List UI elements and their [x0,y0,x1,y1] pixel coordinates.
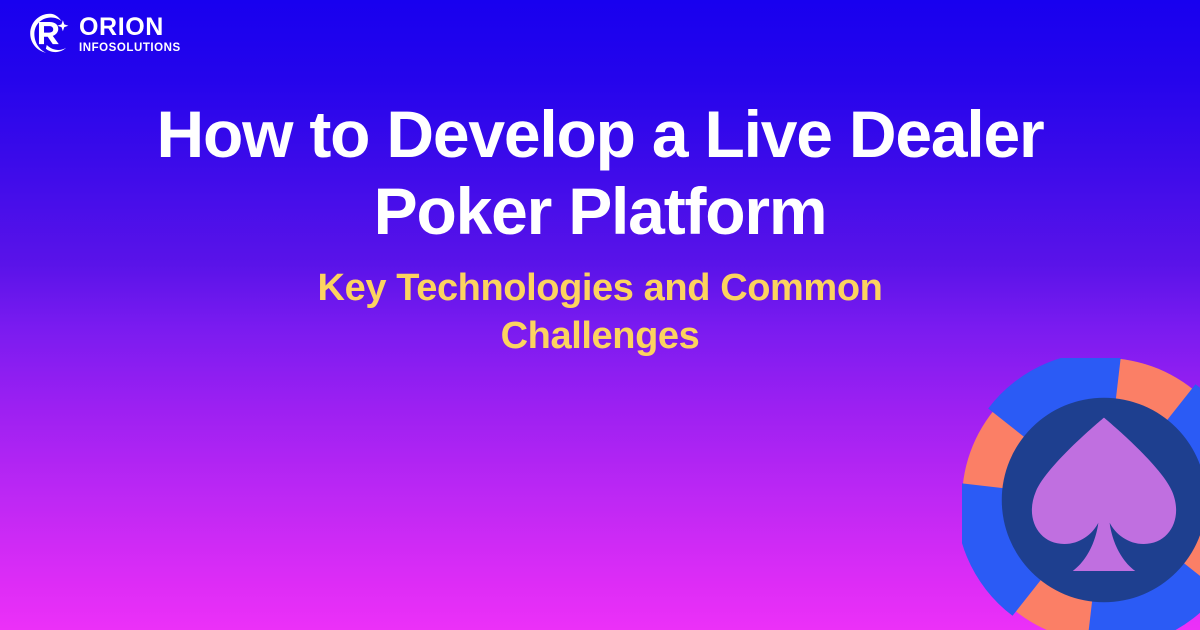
page-title: How to Develop a Live Dealer Poker Platf… [45,96,1155,249]
headline-line-2: Poker Platform [45,173,1155,250]
brand-tagline: INFOSOLUTIONS [79,43,181,55]
subhead-line-1: Key Technologies and Common [318,267,883,309]
poker-chip-spade-icon [962,358,1200,630]
blog-banner: ORION INFOSOLUTIONS How to Develop a Liv… [0,0,1200,630]
orion-r-swoosh-star-logo-icon [27,11,73,57]
banner-copy: How to Develop a Live Dealer Poker Platf… [0,96,1200,361]
subhead-line-2: Challenges [501,315,700,357]
brand-wordmark: ORION INFOSOLUTIONS [79,14,181,55]
brand-name: ORION [79,15,181,40]
headline-line-1: How to Develop a Live Dealer [45,96,1155,173]
brand-logo[interactable]: ORION INFOSOLUTIONS [27,11,181,57]
page-subtitle: Key Technologies and Common Challenges [250,265,950,361]
